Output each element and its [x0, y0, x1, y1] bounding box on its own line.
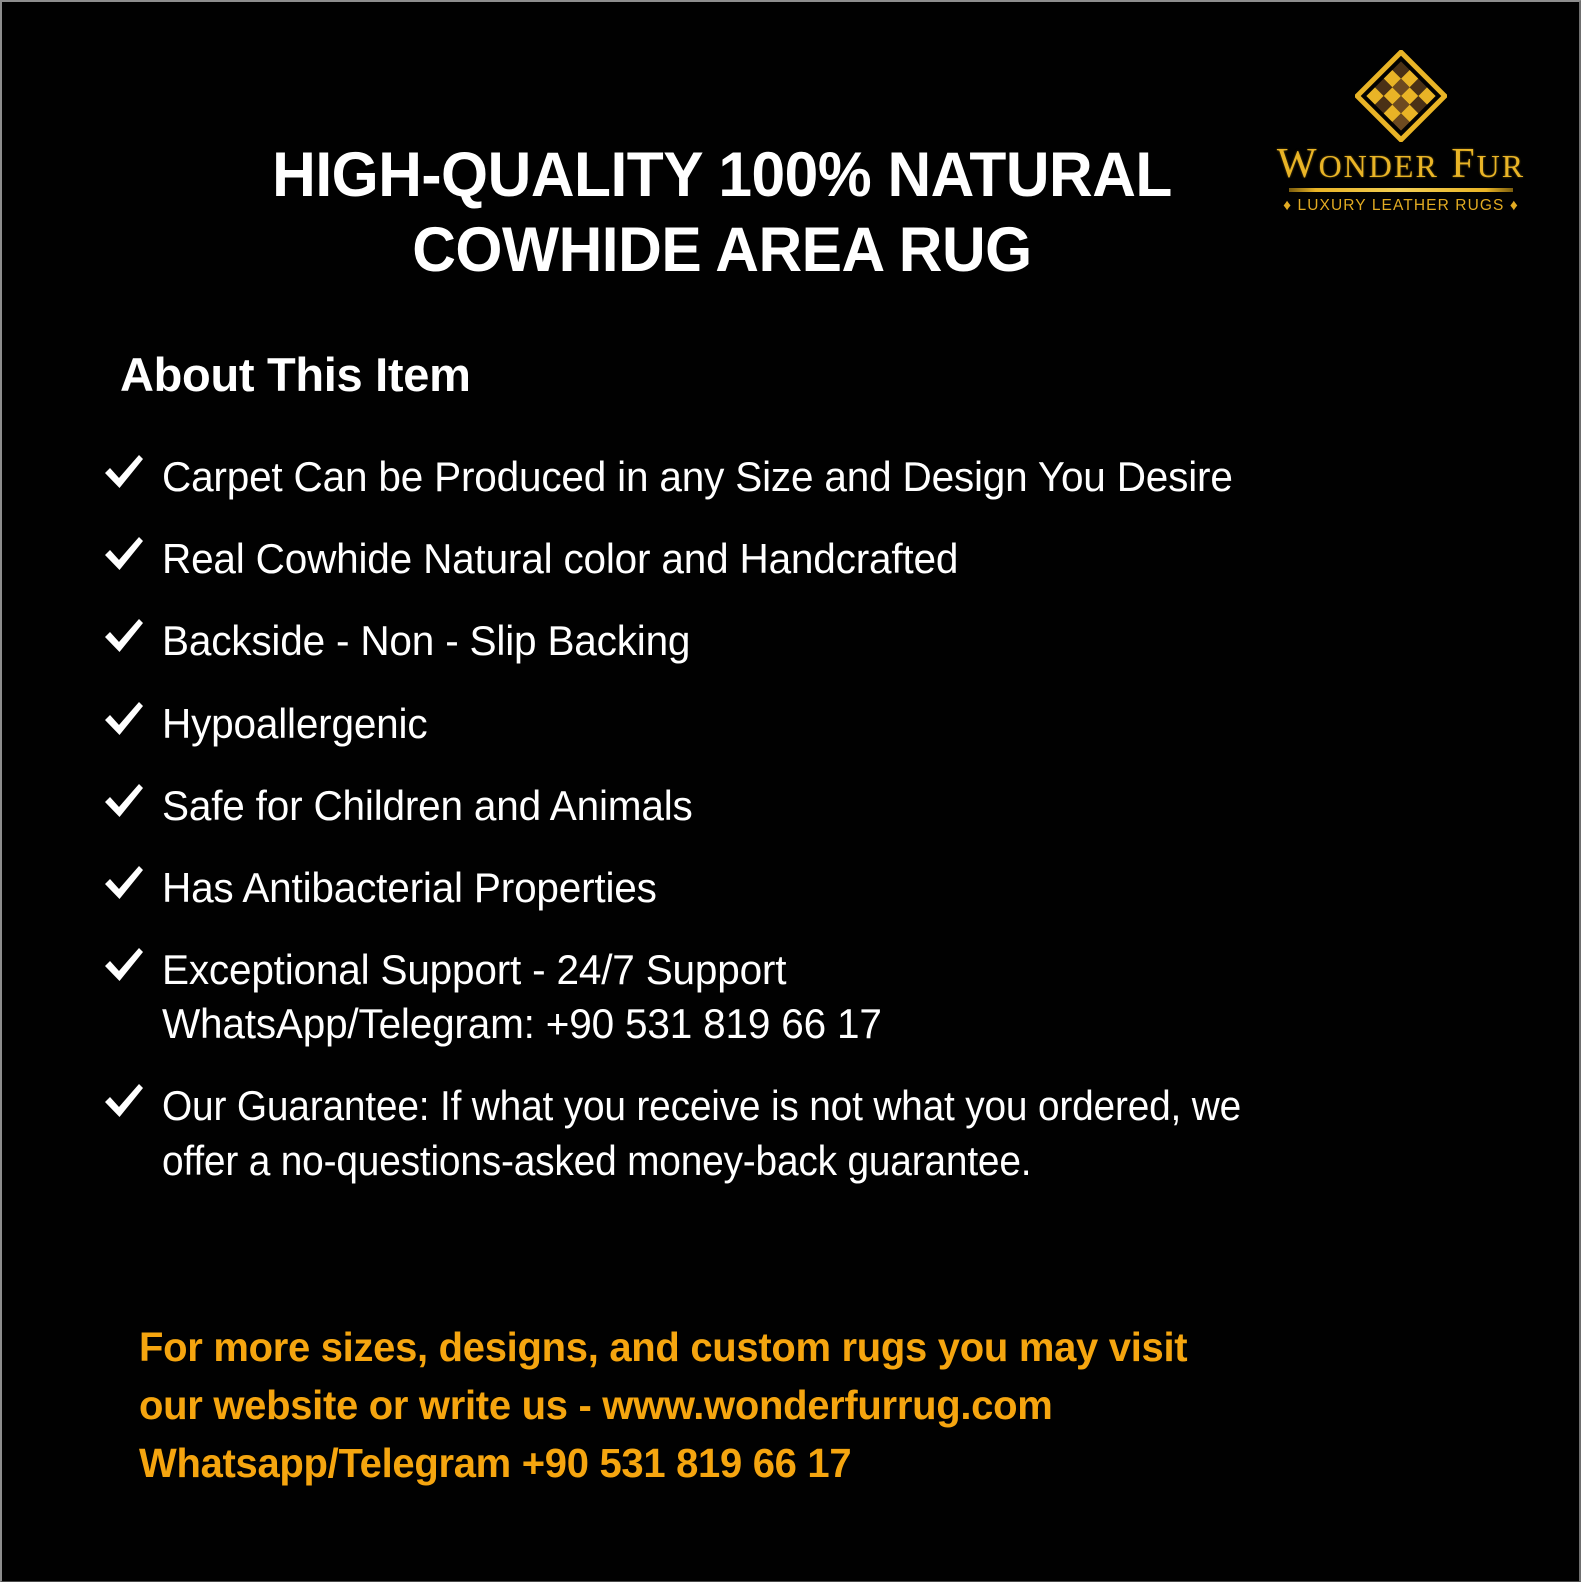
list-item: Backside - Non - Slip Backing — [102, 614, 1522, 668]
brand-onder: ONDER — [1319, 148, 1439, 184]
list-item-label: Exceptional Support - 24/7 Support Whats… — [162, 943, 882, 1051]
brand-logo: WONDER FUR ♦ LUXURY LEATHER RUGS ♦ — [1275, 50, 1527, 218]
brand-wordmark: WONDER FUR — [1275, 143, 1527, 185]
brand-w: W — [1277, 141, 1319, 187]
section-heading-about: About This Item — [120, 347, 471, 402]
feature-list: Carpet Can be Produced in any Size and D… — [102, 450, 1522, 1216]
brand-f: F — [1451, 141, 1476, 187]
footer-contact-text: For more sizes, designs, and custom rugs… — [139, 1318, 1187, 1493]
check-icon — [102, 532, 162, 574]
list-item-label: Our Guarantee: If what you receive is no… — [162, 1079, 1241, 1187]
list-item-label: Backside - Non - Slip Backing — [162, 614, 690, 668]
list-item-label: Real Cowhide Natural color and Handcraft… — [162, 532, 958, 586]
check-icon — [102, 697, 162, 739]
list-item: Hypoallergenic — [102, 697, 1522, 751]
list-item-label: Safe for Children and Animals — [162, 779, 693, 833]
check-icon — [102, 779, 162, 821]
list-item-label: Has Antibacterial Properties — [162, 861, 657, 915]
list-item: Carpet Can be Produced in any Size and D… — [102, 450, 1522, 504]
list-item: Exceptional Support - 24/7 Support Whats… — [102, 943, 1522, 1051]
check-icon — [102, 943, 162, 985]
check-icon — [102, 450, 162, 492]
brand-tagline: ♦ LUXURY LEATHER RUGS ♦ — [1275, 197, 1527, 215]
diamond-checkerboard-icon — [1355, 50, 1447, 142]
check-icon — [102, 614, 162, 656]
list-item: Has Antibacterial Properties — [102, 861, 1522, 915]
list-item: Real Cowhide Natural color and Handcraft… — [102, 532, 1522, 586]
list-item: Safe for Children and Animals — [102, 779, 1522, 833]
check-icon — [102, 861, 162, 903]
list-item-label: Carpet Can be Produced in any Size and D… — [162, 450, 1233, 504]
brand-ur: UR — [1477, 148, 1525, 184]
product-info-poster: WONDER FUR ♦ LUXURY LEATHER RUGS ♦ HIGH-… — [0, 0, 1581, 1582]
check-icon — [102, 1079, 162, 1121]
list-item-label: Hypoallergenic — [162, 697, 427, 751]
list-item: Our Guarantee: If what you receive is no… — [102, 1079, 1522, 1187]
logo-divider — [1289, 188, 1513, 192]
page-title: HIGH-QUALITY 100% NATURAL COWHIDE AREA R… — [175, 138, 1269, 288]
